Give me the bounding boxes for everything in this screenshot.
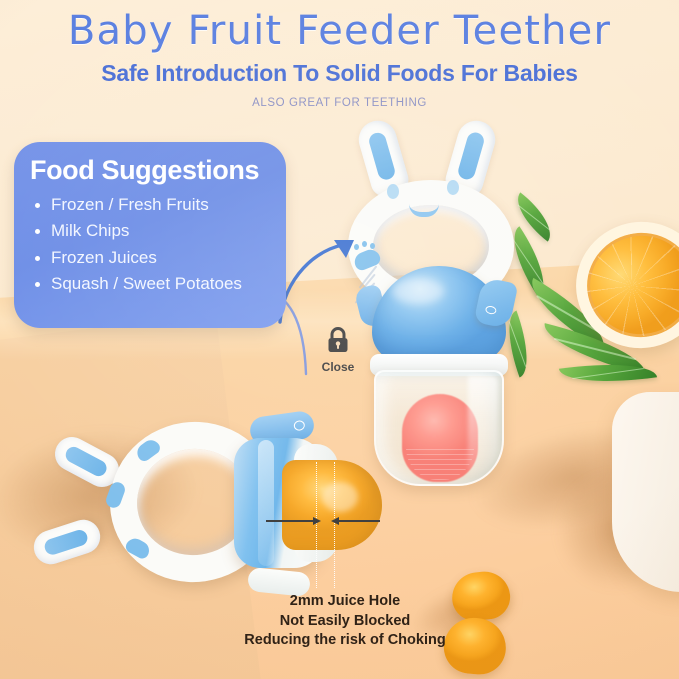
page-subtitle: Safe Introduction To Solid Foods For Bab… — [0, 60, 679, 87]
lock-closed-icon — [325, 326, 351, 354]
cup-sheen — [468, 376, 498, 476]
caption-line-3: Reducing the risk of Choking — [175, 631, 515, 651]
food-suggestions-heading: Food Suggestions — [30, 155, 270, 186]
close-label: Close — [316, 360, 360, 374]
page-tagline: ALSO GREAT FOR TEETHING — [0, 97, 679, 109]
food-suggestions-list: Frozen / Fresh Fruits Milk Chips Frozen … — [30, 192, 270, 297]
list-item: Squash / Sweet Potatoes — [30, 271, 270, 297]
list-item: Milk Chips — [30, 218, 270, 244]
food-suggestions-card: Food Suggestions Frozen / Fresh Fruits M… — [14, 142, 286, 328]
juice-hole-caption: 2mm Juice Hole Not Easily Blocked Reduci… — [175, 592, 515, 651]
close-lock-annotation: Close — [316, 326, 360, 374]
measure-arrows-icon — [250, 462, 412, 588]
bunny-eye-left — [387, 184, 399, 199]
caption-line-2: Not Easily Blocked — [175, 612, 515, 632]
bunny-eye-right — [447, 180, 459, 195]
page-title: Baby Fruit Feeder Teether — [0, 8, 679, 54]
bunny-ear-lower — [29, 515, 104, 568]
list-item: Frozen Juices — [30, 245, 270, 271]
caption-line-1: 2mm Juice Hole — [175, 592, 515, 612]
product-infographic: Close Baby Fruit Feeder Teether Safe Int… — [0, 0, 679, 679]
list-item: Frozen / Fresh Fruits — [30, 192, 270, 218]
